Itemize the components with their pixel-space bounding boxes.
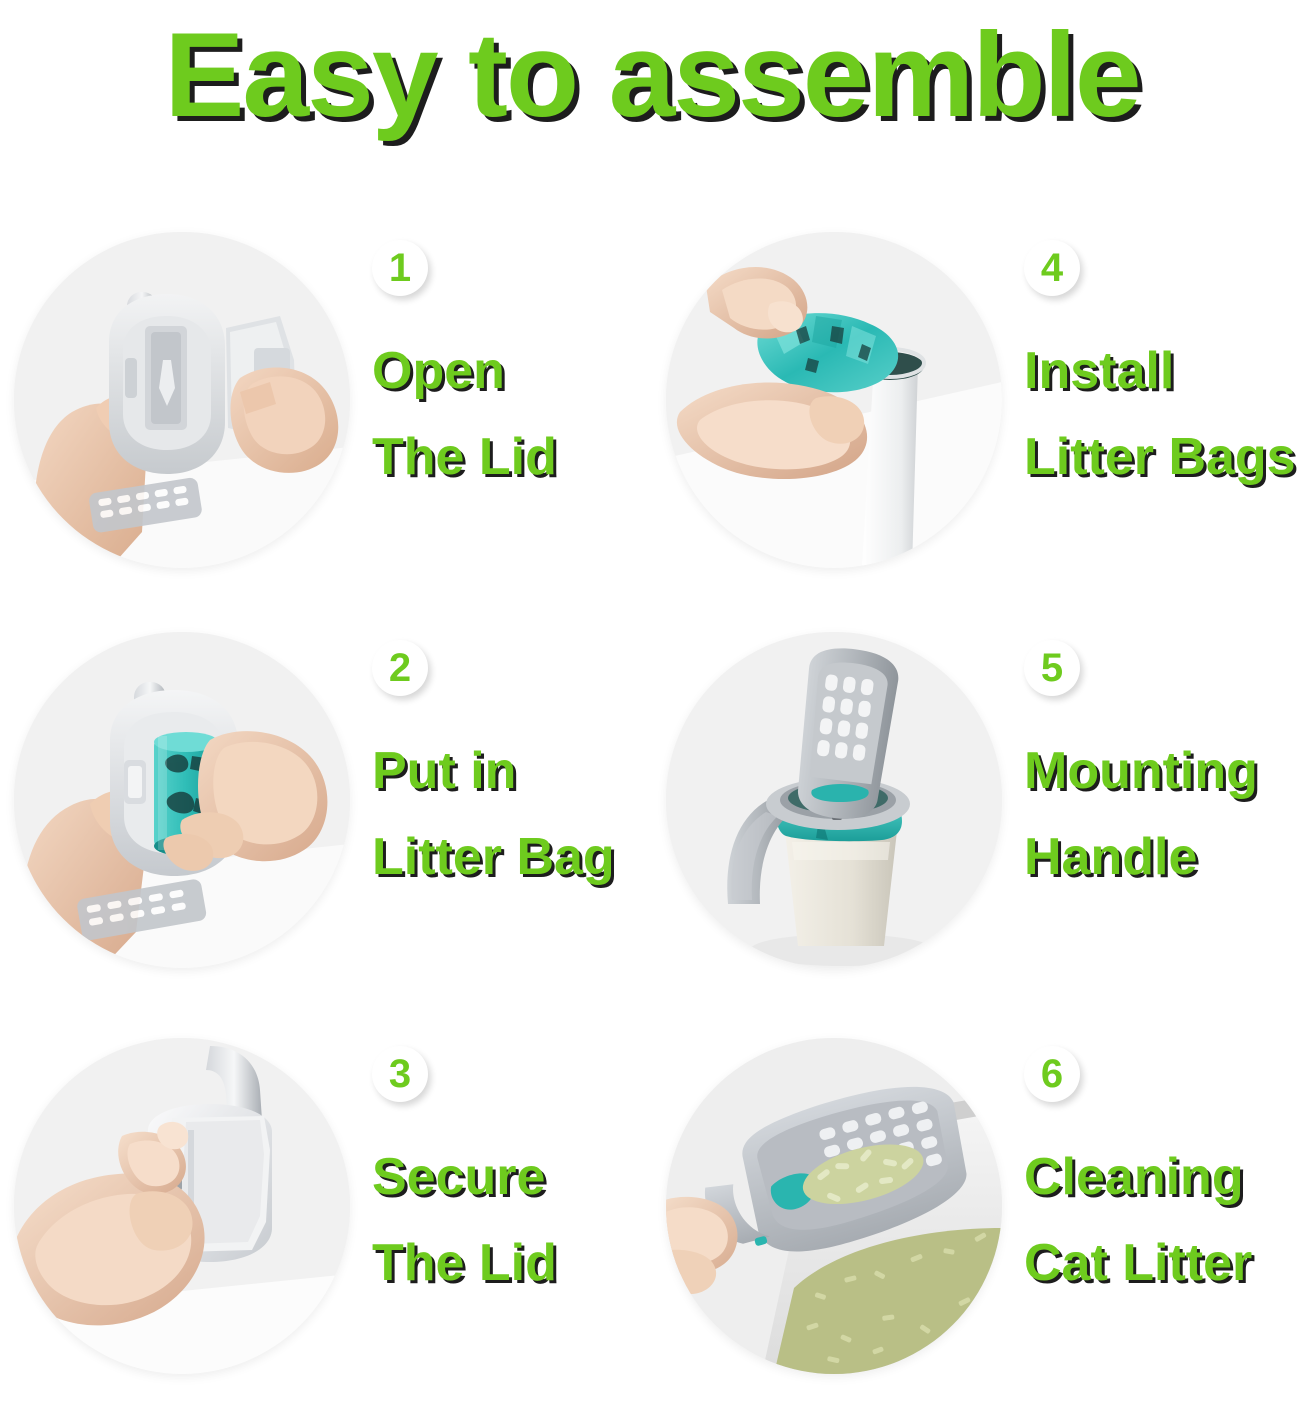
step-label-line2: Litter Bag [372,814,615,900]
step-caption-3: 3 Secure The Lid [350,1038,652,1374]
step-card-2: 2 Put in Litter Bag [0,600,652,1000]
step-photo-3 [14,1038,350,1374]
step-photo-4 [666,232,1002,568]
step-label-6: Cleaning Cat Litter [1024,1134,1252,1306]
step-card-4: 4 Install Litter Bags [652,200,1304,600]
step-label-3: Secure The Lid [372,1134,557,1306]
steps-grid: 1 Open The Lid [0,200,1304,1401]
step-number-badge: 4 [1024,240,1080,296]
step-photo-6 [666,1038,1002,1374]
step-photo-1 [14,232,350,568]
step-label-line2: Handle [1024,814,1258,900]
step-label-line1: Cleaning [1024,1148,1244,1206]
step-caption-5: 5 Mounting Handle [1002,632,1304,968]
step-label-line2: Litter Bags [1024,414,1296,500]
step-label-1: Open The Lid [372,328,557,500]
step-label-line1: Secure [372,1148,545,1206]
step-label-5: Mounting Handle [1024,728,1258,900]
step-card-5: 5 Mounting Handle [652,600,1304,1000]
page-title: Easy to assemble [164,15,1139,135]
step-number-badge: 3 [372,1046,428,1102]
step-label-line2: The Lid [372,414,557,500]
step-label-line1: Install [1024,342,1174,400]
step-photo-5 [666,632,1002,968]
step-label-line1: Mounting [1024,742,1258,800]
step-caption-4: 4 Install Litter Bags [1002,232,1304,568]
step-card-3: 3 Secure The Lid [0,1006,652,1406]
step-number-badge: 5 [1024,640,1080,696]
step-caption-6: 6 Cleaning Cat Litter [1002,1038,1304,1374]
step-label-line1: Open [372,342,505,400]
step-label-line2: The Lid [372,1220,557,1306]
step-card-1: 1 Open The Lid [0,200,652,600]
step-photo-2 [14,632,350,968]
step-label-line2: Cat Litter [1024,1220,1252,1306]
header: Easy to assemble [0,0,1304,150]
step-number-badge: 6 [1024,1046,1080,1102]
step-number-badge: 2 [372,640,428,696]
step-label-line1: Put in [372,742,516,800]
step-caption-1: 1 Open The Lid [350,232,652,568]
step-label-4: Install Litter Bags [1024,328,1296,500]
step-number-badge: 1 [372,240,428,296]
step-card-6: 6 Cleaning Cat Litter [652,1006,1304,1406]
step-caption-2: 2 Put in Litter Bag [350,632,652,968]
step-label-2: Put in Litter Bag [372,728,615,900]
